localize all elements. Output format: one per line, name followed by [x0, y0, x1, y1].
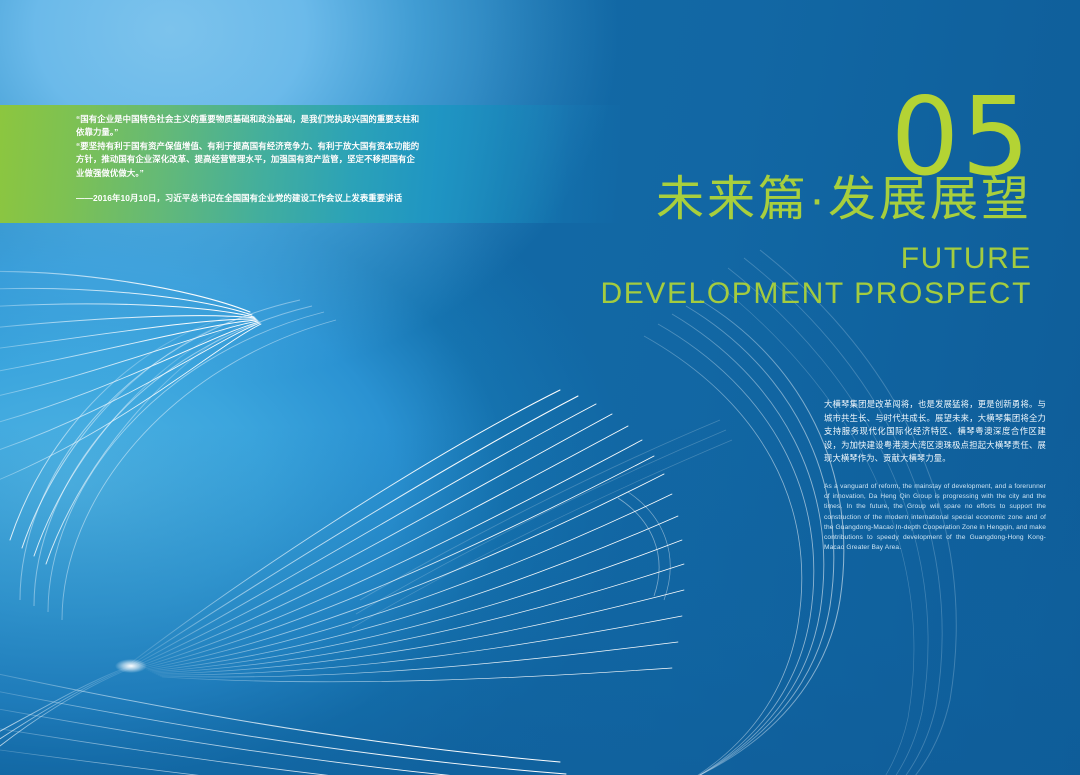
- body-copy: 大横琴集团是改革闯将，也是发展猛将，更是创新勇将。与城市共生长、与时代共成长。展…: [824, 398, 1046, 553]
- brochure-page: “国有企业是中国特色社会主义的重要物质基础和政治基础，是我们党执政兴国的重要支柱…: [0, 0, 1080, 775]
- chapter-heading: 05 未来篇·发展展望 FUTURE DEVELOPMENT PROSPECT: [600, 88, 1032, 312]
- chapter-title-english-line2: DEVELOPMENT PROSPECT: [600, 276, 1032, 312]
- quote-attribution: ——2016年10月10日，习近平总书记在全国国有企业党的建设工作会议上发表重要…: [76, 192, 420, 205]
- quote-text-block: “国有企业是中国特色社会主义的重要物质基础和政治基础，是我们党执政兴国的重要支柱…: [76, 113, 420, 205]
- chapter-title-english: FUTURE DEVELOPMENT PROSPECT: [600, 242, 1032, 312]
- quote-band: “国有企业是中国特色社会主义的重要物质基础和政治基础，是我们党执政兴国的重要支柱…: [0, 105, 620, 223]
- quote-line-2: “要坚持有利于国有资产保值增值、有利于提高国有经济竞争力、有利于放大国有资本功能…: [76, 140, 420, 180]
- body-paragraph-english: As a vanguard of reform, the mainstay of…: [824, 482, 1046, 553]
- chapter-title-chinese: 未来篇·发展展望: [600, 175, 1032, 225]
- chapter-title-english-line1: FUTURE: [600, 242, 1032, 276]
- body-paragraph-chinese: 大横琴集团是改革闯将，也是发展猛将，更是创新勇将。与城市共生长、与时代共成长。展…: [824, 398, 1046, 466]
- quote-line-1: “国有企业是中国特色社会主义的重要物质基础和政治基础，是我们党执政兴国的重要支柱…: [76, 113, 420, 140]
